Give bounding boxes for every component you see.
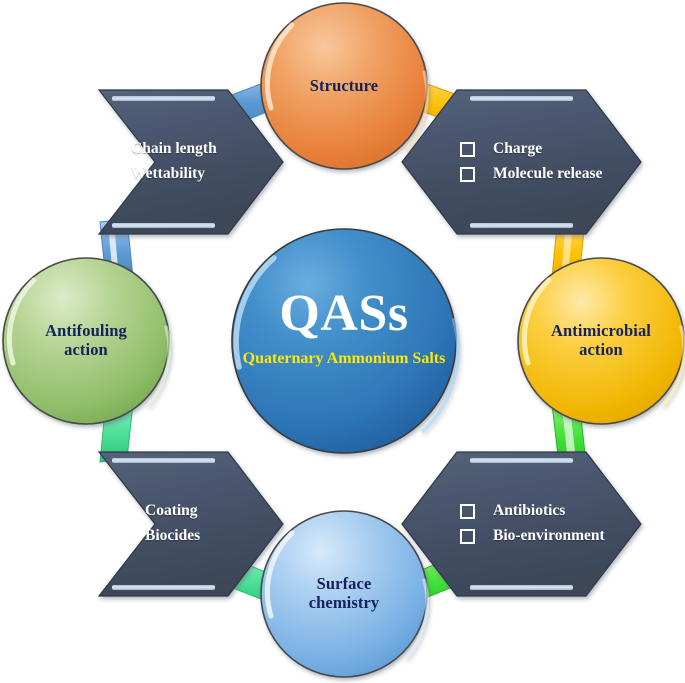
list-item[interactable]: Coating <box>112 502 200 520</box>
list-item[interactable]: Biocides <box>112 527 200 545</box>
diagram-artwork <box>0 0 685 683</box>
hexagon-charge-release-content: Charge Molecule release <box>460 133 602 190</box>
hollow-square-bullet-icon <box>98 142 113 157</box>
hexagon-item-label: Wettability <box>131 165 205 183</box>
hexagon-item-label: Biocides <box>145 527 200 545</box>
hexagon-item-label: Antibiotics <box>493 502 565 520</box>
hexagon-item-label: Molecule release <box>493 165 602 183</box>
circle-antimicrobial-action-shape[interactable] <box>518 258 684 424</box>
circle-antifouling-action-shape[interactable] <box>3 258 169 424</box>
hollow-square-bullet-icon <box>112 529 127 544</box>
list-item[interactable]: Charge <box>460 140 602 158</box>
list-item[interactable]: Antibiotics <box>460 502 605 520</box>
hexagon-item-label: Coating <box>145 502 198 520</box>
circle-structure-shape[interactable] <box>261 3 427 169</box>
hexagon-item-label: Charge <box>493 140 542 158</box>
circle-surface-chemistry-shape[interactable] <box>261 511 427 677</box>
center-circle-shape[interactable] <box>232 229 458 453</box>
hollow-square-bullet-icon <box>112 504 127 519</box>
hollow-square-bullet-icon <box>460 529 475 544</box>
diagram-canvas: QASs Quaternary Ammonium Salts Structure… <box>0 0 685 683</box>
hollow-square-bullet-icon <box>460 167 475 182</box>
list-item[interactable]: Molecule release <box>460 165 602 183</box>
hexagon-item-label: Chain length <box>131 140 217 158</box>
hollow-square-bullet-icon <box>460 142 475 157</box>
hollow-square-bullet-icon <box>460 504 475 519</box>
hollow-square-bullet-icon <box>98 167 113 182</box>
hexagon-coating-biocides-content: Coating Biocides <box>112 495 200 552</box>
hexagon-item-label: Bio-environment <box>493 527 605 545</box>
hexagon-structure-properties-content: Chain length Wettability <box>98 133 217 190</box>
hexagon-antibiotics-bioenvironment-content: Antibiotics Bio-environment <box>460 495 605 552</box>
list-item[interactable]: Bio-environment <box>460 527 605 545</box>
list-item[interactable]: Wettability <box>98 165 217 183</box>
list-item[interactable]: Chain length <box>98 140 217 158</box>
